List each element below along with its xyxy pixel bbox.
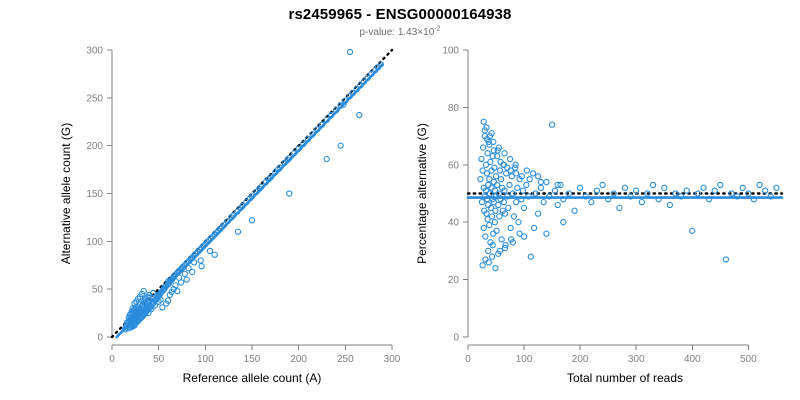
data-point	[600, 182, 605, 187]
data-point	[532, 225, 537, 230]
data-point	[507, 182, 512, 187]
data-point	[524, 168, 529, 173]
data-point	[718, 182, 723, 187]
data-point	[499, 237, 504, 242]
data-point	[541, 200, 546, 205]
data-point	[550, 122, 555, 127]
data-point	[480, 263, 485, 268]
data-point	[639, 200, 644, 205]
data-point	[212, 252, 217, 257]
data-point	[485, 151, 490, 156]
data-point	[481, 119, 486, 124]
y-tick-label: 0	[453, 333, 459, 344]
data-point	[483, 234, 488, 239]
y-axis-title: Alternative allele count (G)	[59, 123, 73, 264]
data-point	[527, 177, 532, 182]
data-point	[572, 208, 577, 213]
data-point	[491, 179, 496, 184]
data-point	[497, 214, 502, 219]
data-point	[488, 159, 493, 164]
data-point	[617, 205, 622, 210]
data-point	[520, 188, 525, 193]
x-axis-title: Total number of reads	[567, 371, 683, 385]
data-point	[338, 143, 343, 148]
data-point	[479, 200, 484, 205]
data-point	[538, 179, 543, 184]
y-tick-label: 100	[442, 46, 459, 57]
data-point	[490, 254, 495, 259]
x-tick-label: 500	[740, 354, 757, 365]
data-point	[182, 271, 187, 276]
data-point	[528, 254, 533, 259]
data-point	[497, 168, 502, 173]
data-point	[530, 171, 535, 176]
x-tick-label: 100	[197, 354, 214, 365]
x-axis-title: Reference allele count (A)	[183, 371, 322, 385]
left-panel-reference-vs-alternative: 050100150200250300050100150200250300Refe…	[59, 46, 401, 386]
data-point	[690, 228, 695, 233]
x-tick-label: 200	[572, 354, 589, 365]
right-panel-percentage-vs-reads: 0204060801000100200300400500Total number…	[415, 46, 782, 386]
scatter-plot-canvas: 050100150200250300050100150200250300Refe…	[0, 0, 800, 400]
data-point	[493, 208, 498, 213]
data-point	[207, 248, 212, 253]
data-point	[493, 174, 498, 179]
figure-root: rs2459965 - ENSG00000164938 p-value: 1.4…	[0, 0, 800, 400]
data-point	[650, 182, 655, 187]
y-tick-label: 200	[86, 141, 103, 152]
data-point	[486, 260, 491, 265]
y-tick-label: 300	[86, 46, 103, 57]
data-point	[496, 202, 501, 207]
data-point	[662, 185, 667, 190]
data-point	[508, 225, 513, 230]
data-point	[249, 218, 254, 223]
x-tick-label: 0	[465, 354, 471, 365]
data-point	[347, 49, 352, 54]
data-point	[516, 220, 521, 225]
y-tick-label: 40	[448, 218, 460, 229]
exponent-base: 10	[423, 27, 434, 38]
page-title: rs2459965 - ENSG00000164938	[0, 6, 800, 23]
data-point	[493, 266, 498, 271]
x-tick-label: 300	[628, 354, 645, 365]
x-tick-label: 200	[290, 354, 307, 365]
data-point	[589, 200, 594, 205]
data-point	[712, 188, 717, 193]
data-point	[491, 231, 496, 236]
data-point	[507, 156, 512, 161]
y-tick-label: 50	[92, 285, 104, 296]
data-point	[178, 280, 183, 285]
data-points	[122, 49, 383, 332]
data-point	[555, 202, 560, 207]
data-point	[524, 182, 529, 187]
data-point	[521, 205, 526, 210]
data-point	[495, 182, 500, 187]
y-tick-label: 60	[448, 160, 460, 171]
data-point	[501, 200, 506, 205]
data-point	[184, 277, 189, 282]
data-point	[494, 228, 499, 233]
data-point	[198, 258, 203, 263]
x-tick-label: 250	[337, 354, 354, 365]
data-point	[190, 269, 195, 274]
x-tick-label: 150	[244, 354, 261, 365]
y-tick-label: 100	[86, 237, 103, 248]
data-point	[622, 185, 627, 190]
data-point	[740, 185, 745, 190]
y-tick-label: 150	[86, 189, 103, 200]
data-point	[483, 257, 488, 262]
data-point	[486, 182, 491, 187]
data-points	[478, 119, 779, 271]
y-axis-title: Percentage alternative (G)	[415, 123, 429, 264]
data-point	[324, 156, 329, 161]
data-point	[235, 229, 240, 234]
x-tick-label: 50	[153, 354, 165, 365]
data-point	[535, 211, 540, 216]
p-value-text: p-value: 1.43	[359, 27, 417, 38]
data-point	[667, 202, 672, 207]
data-point	[481, 145, 486, 150]
y-tick-label: 0	[97, 333, 103, 344]
data-point	[561, 220, 566, 225]
data-point	[287, 191, 292, 196]
x-tick-label: 0	[109, 354, 115, 365]
data-point	[502, 151, 507, 156]
data-point	[492, 220, 497, 225]
data-point	[479, 156, 484, 161]
data-point	[538, 185, 543, 190]
data-point	[490, 214, 495, 219]
p-value-subtitle: p-value: 1.43×10-2	[0, 27, 800, 38]
data-point	[498, 177, 503, 182]
data-point	[481, 225, 486, 230]
data-point	[192, 260, 197, 265]
y-tick-label: 20	[448, 275, 460, 286]
data-point	[357, 112, 362, 117]
exponent-value: -2	[434, 26, 440, 33]
data-point	[515, 185, 520, 190]
y-tick-label: 250	[86, 93, 103, 104]
data-point	[486, 248, 491, 253]
data-point	[544, 179, 549, 184]
data-point	[684, 188, 689, 193]
data-point	[511, 214, 516, 219]
data-point	[723, 257, 728, 262]
y-tick-label: 80	[448, 103, 460, 114]
data-point	[578, 185, 583, 190]
data-point	[489, 185, 494, 190]
data-point	[757, 182, 762, 187]
data-point	[199, 264, 204, 269]
x-tick-label: 100	[516, 354, 533, 365]
data-point	[701, 185, 706, 190]
x-tick-label: 400	[684, 354, 701, 365]
data-point	[478, 177, 483, 182]
data-point	[535, 174, 540, 179]
data-point	[514, 171, 519, 176]
x-tick-label: 300	[384, 354, 401, 365]
data-point	[517, 231, 522, 236]
data-point	[505, 165, 510, 170]
data-point	[506, 205, 511, 210]
data-point	[774, 185, 779, 190]
data-point	[487, 222, 492, 227]
data-point	[508, 168, 513, 173]
data-point	[544, 231, 549, 236]
data-point	[514, 200, 519, 205]
